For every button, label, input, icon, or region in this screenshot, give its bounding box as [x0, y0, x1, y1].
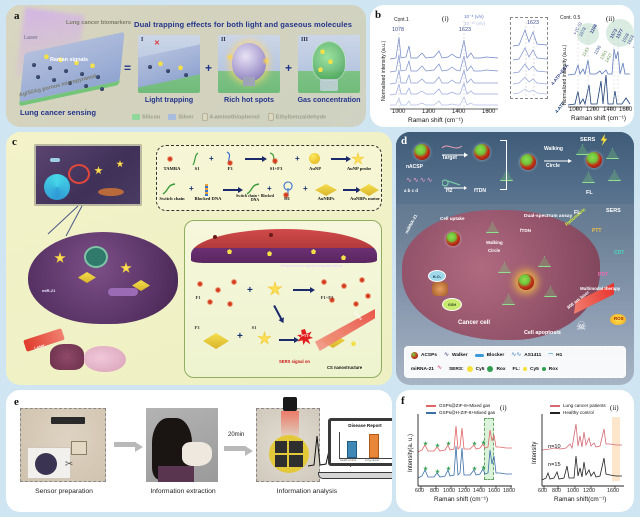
label-mirna21: miRNA-21 [404, 213, 418, 234]
panel-e: e ✂ Sensor preparation Information extra… [6, 390, 392, 512]
legend-label-rox-sers: Rox [496, 367, 505, 372]
xtick-1200-bi: 1200 [422, 109, 435, 115]
n-label-healthy: n=15 [548, 462, 561, 468]
label-f1: F1 [191, 295, 205, 300]
nacsp-particle [414, 144, 430, 160]
f1-cluster [193, 277, 245, 311]
caption-information-analysis: Information analysis [252, 488, 362, 495]
label-aunp-probe: AuNP probe [339, 166, 379, 171]
intracellular-inset-image [34, 144, 142, 206]
xtick-600-fi: 600 [415, 488, 424, 494]
report-bar-health [347, 441, 357, 458]
label-fl-cell: FL [574, 210, 581, 216]
xtick-1600-fii: 1600 [607, 488, 619, 494]
xtick-1200-fii: 1200 [583, 488, 595, 494]
legend-icon-rox-fl [542, 367, 546, 371]
legend-label-walker: Walker [452, 353, 468, 358]
membrane-illustration [191, 229, 377, 263]
label-sers-top: SERS [580, 137, 595, 143]
panel-a-label: a [14, 10, 20, 22]
legend-item-4atp: 4-aminothiophenol [202, 113, 260, 121]
ylabel-b-ii: Normalized intensity (a.u.) [562, 45, 568, 105]
chart-b-i: (i) Cont.1 10⁻⁸ (v/v) 10⁻¹⁰ (v/v) 1078 1… [386, 13, 506, 121]
plus-sign-2: + [285, 61, 292, 75]
legend-item-silver: Silver [168, 114, 193, 120]
laser-beam-c [315, 309, 375, 351]
arrow-step-1-2 [114, 442, 136, 447]
label-s1f3: S1+F3 [261, 166, 291, 171]
panel-c-label: c [12, 136, 17, 148]
fluorescent-amplification-label: Fluorescent signal amplification [281, 263, 342, 268]
xlabel-b-ii: Raman shift (cm⁻¹) [571, 114, 626, 122]
xlabel-f-i: Raman shift (cm⁻¹) [434, 495, 488, 503]
panel-a: a Laser Lung cancer biomarkers Dual trap… [6, 5, 366, 127]
chart-f-i: (i) GSPs@ZIF-8+Mixed gas GSPs@H-ZIF-8+Mi… [412, 400, 516, 504]
xtick-1000-fii: 1000 [567, 488, 579, 494]
label-dual-spectrum-assay: Dual-spectrum assay [524, 214, 572, 219]
xlabel-b-i: Raman shift (cm⁻¹) [408, 116, 463, 124]
label-cell-uptake: Cell uptake [440, 216, 465, 221]
label-cell-apoptosis: Cell apoptosis [524, 330, 561, 336]
mechanism-box: Fluorescent signal amplification F1 + F1… [184, 220, 382, 378]
label-abcd: a b c d [404, 188, 418, 193]
xtick-600-fii: 600 [538, 488, 547, 494]
label-switch-chain: Switch chain [155, 196, 189, 201]
xtick-1200-bii: 1200 [586, 107, 599, 113]
label-pdt: PDT [598, 272, 608, 278]
label-tamra: TAMRA [157, 166, 187, 171]
xtick-1000-fi: 1000 [443, 488, 455, 494]
subpanel-light-trapping: ✕ [138, 35, 200, 93]
mouse-illustration [84, 346, 126, 372]
figure-root: a Laser Lung cancer biomarkers Dual trap… [0, 0, 640, 517]
molecule-glyph-4atp [202, 113, 208, 121]
spectra-svg-b-ii [566, 13, 632, 121]
xtick-1400-bi: 1400 [452, 109, 465, 115]
xtick-1600-fi: 1600 [488, 488, 500, 494]
chart-b-ii: Cont. 0.5 (ii) ν (C-S) 1078 1143 1198 11… [566, 13, 632, 121]
cs-nanostructure-label: CS nanostructure [327, 365, 362, 370]
label-ros: ROS [614, 316, 624, 321]
legend-icon-cy5-sers [467, 366, 473, 372]
silicon-swatch [132, 114, 140, 120]
label-cancer-cell: Cancer cell [458, 320, 490, 326]
f1f3-cluster [317, 275, 373, 313]
legend-label-as1411: AS1411 [524, 353, 541, 358]
cancer-cell-illustration: H₂O₂ GSH Walking Circle Cancer cell [402, 210, 600, 340]
information-extraction-image [146, 408, 218, 482]
label-h2: H2 [446, 188, 452, 194]
panel-c: c miR-21 Laser [6, 132, 392, 385]
label-f2: F3 [189, 325, 205, 330]
label-blocked-dna: Blocked DNA [191, 196, 225, 201]
legend-icon-mirna21: ∿ [437, 367, 442, 371]
lysosome [432, 282, 448, 296]
plus-sign-1: + [205, 61, 212, 75]
label-fl-top: FL [586, 190, 593, 196]
chart-f-ii: (ii) Lung cancer patients Healthy contro… [536, 400, 628, 504]
tumor-illustration [50, 344, 84, 370]
caption-sensor-preparation: Sensor preparation [12, 488, 116, 495]
label-walking-cell: Walking [486, 240, 503, 245]
strand-glyphs: ∿∿∿∿ [406, 176, 433, 184]
xtick-800-fi: 800 [430, 488, 439, 494]
panel-d-label: d [401, 135, 407, 147]
label-h1: H1 [275, 196, 299, 201]
xtick-1800-fi: 1800 [503, 488, 515, 494]
brace-right [500, 140, 507, 190]
report-title: Disease Report [335, 423, 392, 428]
legend-icon-rox-sers [487, 366, 493, 372]
inset-box-b-i: 1623 [510, 17, 548, 99]
legend-icon-blocker [475, 354, 484, 357]
report-label-cancer: Lung cancer [365, 459, 379, 462]
legend-label-blocker: Blocker [487, 353, 505, 358]
ptt-label-c: PTT [297, 333, 313, 338]
xtick-1200-fi: 1200 [458, 488, 470, 494]
panel-a-legend: Silicon Silver 4-aminothiophenol Ethylbe… [132, 113, 326, 121]
panel-b: b (i) Cont.1 10⁻⁸ (v/v) 10⁻¹⁰ (v/v) 1078… [370, 5, 634, 127]
equals-sign: = [124, 61, 131, 75]
legend-icon-acsps [411, 352, 418, 359]
label-multimodal-therapy: Multimodal therapy [580, 286, 620, 291]
subpanel-hot-spots [218, 35, 280, 93]
mirna-label-c: miR-21 [42, 288, 55, 293]
xtick-800-fii: 800 [552, 488, 561, 494]
ylabel-f-i: Intensity(a. u.) [408, 434, 414, 472]
label-aunbps-motor: AuNBPs motor [343, 196, 387, 201]
legend-label-fl: FL: [513, 367, 520, 372]
apoptosis-skull-icon: ☠ [576, 318, 592, 334]
label-f3: F3 [217, 166, 243, 171]
label-s1: S1 [185, 166, 209, 171]
laptop-base [318, 472, 392, 479]
raman-signals-label: Raman signals [50, 57, 88, 63]
h2o2-vesicle: H₂O₂ [428, 270, 446, 282]
reaction-scheme-box: TAMRA S1 + F3 S1+F3 + AuNP AuNP probe Sw… [156, 145, 382, 211]
report-label-health: Health control [340, 459, 356, 462]
spectra-svg-b-i [386, 13, 506, 121]
label-ptt: PTT [592, 228, 601, 234]
label-nacsp: nACSP [406, 164, 423, 170]
xtick-1000-bii: 1000 [569, 107, 582, 113]
legend-label-acsps: ACSPs [421, 353, 437, 358]
panel-f: f (i) GSPs@ZIF-8+Mixed gas GSPs@H-ZIF-8+… [396, 390, 634, 512]
legend-label-sers: SERS: [449, 367, 464, 372]
panel-f-label: f [401, 395, 405, 407]
silver-swatch [168, 114, 176, 120]
caption-information-extraction: Information extraction [138, 488, 228, 495]
ylabel-b-i: Normalised intensity (a.u.) [381, 41, 387, 101]
panel-d-legend: ACSPs ∿Walker Blocker ∿∿AS1411 ⌒H1 miRNA… [404, 346, 626, 378]
label-target: Target [442, 155, 457, 161]
label-walking-top: Walking [544, 146, 563, 152]
label-f1f3: F1+F3 [315, 295, 339, 300]
legend-label-mirna21: miRNA-21 [411, 367, 434, 372]
subpanel-gas-concentration [298, 35, 360, 93]
inset-pointer-lines [44, 204, 84, 238]
legend-icon-walker: ∿ [444, 354, 449, 358]
report-bar-cancer [369, 434, 379, 458]
legend-label-h1: H1 [556, 353, 562, 358]
gsh-vesicle: GSH [442, 298, 462, 311]
legend-item-eba: Ethylbenzaldehyde [268, 113, 327, 121]
biomarker-label: Lung cancer biomarkers [66, 20, 131, 26]
molecule-glyph-eba [268, 113, 274, 121]
xtick-1000-bi: 1000 [392, 109, 405, 115]
label-ftdn: fTDN [474, 188, 486, 194]
n-label-patients: n=10 [548, 444, 561, 450]
laptop-screen: Disease Report Health control Lung cance… [328, 418, 392, 466]
label-aunp: AuNP [301, 166, 329, 171]
subpanel-numeral-i: I [141, 37, 143, 43]
legend-label-cy5-sers: Cy5 [476, 367, 485, 372]
panel-d: d nACSP Target ∿∿∿∿ a b c d H2 fTDN Walk… [396, 132, 634, 385]
caption-light-trapping: Light trapping [128, 95, 210, 104]
legend-label-cy5-fl: Cy5 [530, 367, 539, 372]
cell-illustration: miR-21 [28, 232, 178, 324]
legend-item-silicon: Silicon [132, 114, 160, 120]
legend-icon-as1411: ∿∿ [511, 354, 521, 358]
panel-d-top-section [396, 132, 634, 204]
legend-label-rox-fl: Rox [549, 367, 558, 372]
label-cdt: CDT [614, 250, 624, 256]
label-ftdn-cell: fTDN [520, 228, 531, 233]
ylabel-f-ii: Intensity [532, 442, 538, 464]
nacsp-target-complex [474, 144, 490, 160]
caption-gas-concentration: Gas concentration [287, 95, 366, 104]
xtick-1600-bii: 1600 [619, 107, 632, 113]
subpanel-numeral-iii: III [301, 37, 308, 43]
assembled-probe [520, 154, 536, 170]
time-label-20min: 20min [228, 432, 244, 438]
panel-a-title: Dual trapping effects for both light and… [134, 20, 352, 29]
legend-icon-cy5-fl [523, 367, 527, 371]
label-circle-top: Circle [546, 163, 560, 169]
panel-e-label: e [14, 396, 19, 408]
label-switch-blocked: Switch chain + Blocked DNA [233, 194, 277, 202]
lung-cancer-sensing-label: Lung cancer sensing [20, 108, 96, 117]
label-s1-bottom: S1 [247, 325, 261, 330]
inset-spectra-svg [511, 18, 549, 100]
label-sers-cell: SERS [606, 208, 621, 214]
subpanel-numeral-ii: II [221, 37, 226, 43]
sers-signal-on-label: SERS signal on [279, 359, 310, 364]
legend-icon-h1: ⌒ [548, 352, 553, 359]
caption-hot-spots: Rich hot spots [208, 95, 290, 104]
xtick-1600-bi: 1600 [482, 109, 495, 115]
xlabel-f-ii: Raman shift(cm⁻¹) [554, 495, 606, 503]
xtick-1400-bii: 1400 [603, 107, 616, 113]
label-circle-cell: Circle [488, 248, 500, 253]
xtick-1400-fi: 1400 [473, 488, 485, 494]
arrow-step-2-3 [224, 446, 246, 451]
sensor-preparation-image: ✂ [20, 408, 106, 482]
panel-b-label: b [375, 9, 381, 21]
label-aunbps: AuNBPs [309, 196, 343, 201]
